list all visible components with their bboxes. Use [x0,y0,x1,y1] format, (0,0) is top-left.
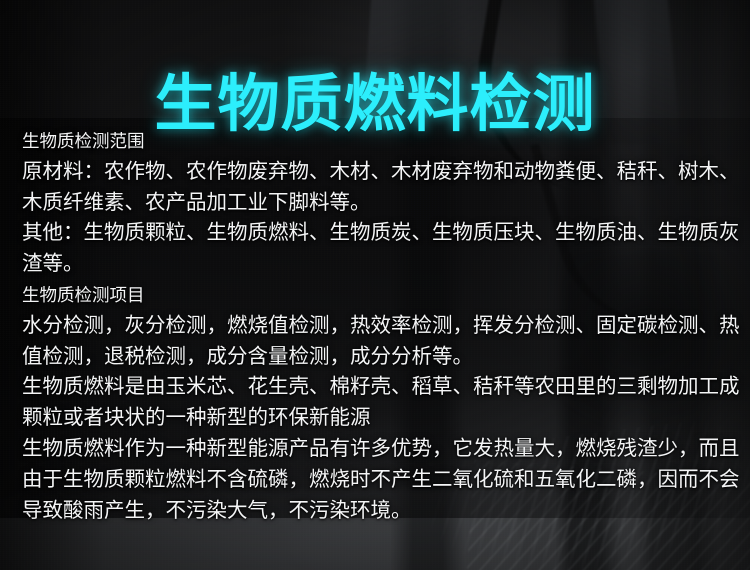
body-copy: 生物质检测范围 原材料：农作物、农作物废弃物、木材、木材废弃物和动物粪便、秸秆、… [22,126,734,526]
text-line-advantages-2: 由于生物质颗粒燃料不含硫磷，燃烧时不产生二氧化硫和五氧化二磷，因而不会 [22,465,734,496]
poster-content: 生物质燃料检测 生物质检测范围 原材料：农作物、农作物废弃物、木材、木材废弃物和… [0,0,750,570]
biomass-fuel-testing-poster: 生物质燃料检测 生物质检测范围 原材料：农作物、农作物废弃物、木材、木材废弃物和… [0,0,750,570]
text-line-advantages-3: 导致酸雨产生，不污染大气，不污染环境。 [22,496,734,527]
section-heading-scope: 生物质检测范围 [22,126,734,157]
text-line-other-1: 其他：生物质颗粒、生物质燃料、生物质炭、生物质压块、生物质油、生物质灰 [22,218,734,249]
text-line-description-1: 生物质燃料是由玉米芯、花生壳、棉籽壳、稻草、秸秆等农田里的三剩物加工成 [22,372,734,403]
text-line-raw-materials-2: 木质纤维素、农产品加工业下脚料等。 [22,188,734,219]
text-line-advantages-1: 生物质燃料作为一种新型能源产品有许多优势，它发热量大，燃烧残渣少，而且 [22,434,734,465]
text-line-other-2: 渣等。 [22,249,734,280]
text-line-items-2: 值检测，退税检测，成分含量检测，成分分析等。 [22,342,734,373]
text-line-description-2: 颗粒或者块状的一种新型的环保新能源 [22,403,734,434]
text-line-items-1: 水分检测，灰分检测，燃烧值检测，热效率检测，挥发分检测、固定碳检测、热 [22,311,734,342]
section-heading-items: 生物质检测项目 [22,280,734,311]
text-line-raw-materials-1: 原材料：农作物、农作物废弃物、木材、木材废弃物和动物粪便、秸秆、树木、 [22,157,734,188]
